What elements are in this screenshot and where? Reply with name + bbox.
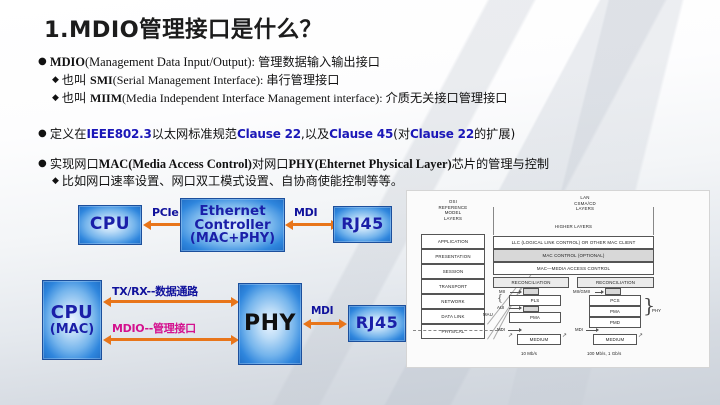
- bullet-line-clause: ● 定义在IEEE802.3以太网标准规范Clause 22,以及Clause …: [38, 124, 515, 142]
- osi-pls-cell: PLS: [509, 295, 561, 306]
- bullet-text-run: MAC(Media Access Control): [99, 157, 252, 171]
- osi-rate-right: 100 Mb/s, 1 Gb/s: [587, 351, 621, 356]
- osi-left-caption: OSI REFERENCE MODEL LAYERS: [417, 199, 489, 221]
- osi-right-caption: LAN CSMA/CD LAYERS: [547, 195, 623, 212]
- block-ethernet-controller: Ethernet Controller (MAC+PHY): [180, 198, 285, 252]
- bullet-text-run: 也叫: [62, 73, 90, 87]
- osi-layer-transport: TRANSPORT: [421, 279, 485, 294]
- osi-layer-data-link: DATA LINK: [421, 309, 485, 324]
- osi-medium-left-zigzag-b: ↗: [562, 333, 567, 339]
- bullet-text-run: 实现网口: [50, 157, 99, 171]
- osi-mau-tag: MAU: [483, 312, 493, 317]
- block-cpu-top-label: CPU: [90, 216, 130, 234]
- bullet-text-run: MIIM: [90, 91, 122, 105]
- bullet-text-run: 芯片的管理与控制: [452, 157, 550, 171]
- osi-mii-arrowhead: [519, 290, 522, 294]
- label-mdi-top: MDI: [294, 206, 317, 219]
- osi-medium-right: MEDIUM: [593, 334, 637, 345]
- arrow-mdio: [110, 338, 232, 341]
- bullet-marker: ◆: [52, 176, 62, 186]
- osi-llc-layer: LLC (LOGICAL LINK CONTROL) OR OTHER MAC …: [493, 236, 654, 249]
- block-phy-label: PHY: [244, 312, 296, 335]
- bullet-text-run: (Serial Management Interface):: [113, 73, 267, 87]
- label-pcie: PCIe: [152, 206, 179, 219]
- bullet-text-run: Clause 22: [237, 127, 301, 141]
- bullet-text-run: (对: [393, 127, 410, 141]
- controller-label-line2: Controller: [194, 218, 270, 232]
- bullet-line-mac-phy: ● 实现网口MAC(Media Access Control)对网口PHY(Eh…: [38, 154, 549, 172]
- osi-mac-control-layer: MAC CONTROL (OPTIONAL): [493, 249, 654, 262]
- controller-label-line3: (MAC+PHY): [190, 232, 275, 246]
- bullet-text-run: IEEE802.3: [86, 127, 151, 141]
- bullet-text-run: 以太网标准规范: [152, 127, 237, 141]
- osi-connector-left: [523, 288, 539, 295]
- osi-mii-gmii-arrowhead: [601, 290, 604, 294]
- osi-mdi-tag-right: MDI: [575, 327, 583, 332]
- bullet-text-run: 串行管理接口: [266, 73, 339, 87]
- bullet-text-run: Clause 22: [410, 127, 474, 141]
- osi-higher-layers: HIGHER LAYERS: [493, 219, 654, 234]
- block-rj45-top: RJ45: [333, 206, 392, 243]
- block-rj45-top-label: RJ45: [341, 216, 384, 233]
- bullet-text-run: (Media Independent Interface Management …: [122, 91, 386, 105]
- bullet-text-run: 也叫: [62, 91, 90, 105]
- osi-mac-layer: MAC—MEDIA ACCESS CONTROL: [493, 262, 654, 275]
- block-rj45-bottom: RJ45: [348, 305, 406, 342]
- osi-pma-right-cell: PMA: [589, 306, 641, 317]
- osi-layer-presentation: PRESENTATION: [421, 249, 485, 264]
- osi-aui-arrowhead: [519, 306, 522, 310]
- bullet-marker: ●: [38, 56, 50, 67]
- bullet-text-run: SMI: [90, 73, 113, 87]
- page-title: 1.MDIO管理接口是什么？: [44, 12, 322, 44]
- arrow-mdi-top: [292, 223, 332, 226]
- label-mdio: MDIO--管理接口: [112, 320, 196, 336]
- bullet-text-run: 管理数据输入输出接口: [258, 55, 380, 69]
- bullet-marker: ◆: [52, 75, 62, 85]
- osi-layer-application: APPLICATION: [421, 234, 485, 249]
- bullet-marker: ●: [38, 158, 50, 169]
- osi-layer-session: SESSION: [421, 264, 485, 279]
- osi-connector-right: [605, 288, 621, 295]
- bullet-text-run: Clause 45: [329, 127, 393, 141]
- controller-label-line1: Ethernet: [199, 204, 265, 218]
- block-cpu-mac: CPU (MAC): [42, 280, 102, 360]
- bullet-text-run: 对网口: [252, 157, 289, 171]
- bullet-text-run: MDIO: [50, 55, 85, 69]
- bullet-text-run: (Management Data Input/Output):: [85, 55, 258, 69]
- bullet-line-smi: ◆ 也叫 SMI(Serial Management Interface): 串…: [52, 70, 339, 88]
- arrow-mdi-bottom: [310, 322, 340, 325]
- bullet-marker: ◆: [52, 93, 62, 103]
- osi-medium-left-zigzag-a: ↗: [508, 333, 513, 339]
- osi-phy-label: PHY: [652, 308, 661, 313]
- osi-physical-divider: [413, 330, 503, 331]
- osi-pma-left-cell: PMA: [509, 312, 561, 323]
- slide-canvas: 1.MDIO管理接口是什么？ ● MDIO(Management Data In…: [0, 0, 720, 405]
- osi-reconciliation-left: RECONCILIATION: [493, 277, 569, 288]
- osi-reference-figure: OSI REFERENCE MODEL LAYERS LAN CSMA/CD L…: [406, 190, 710, 368]
- bullet-text-run: 介质无关接口管理接口: [386, 91, 508, 105]
- osi-pmd-cell: PMD: [589, 317, 641, 328]
- osi-medium-left: MEDIUM: [517, 334, 561, 345]
- block-rj45-bottom-label: RJ45: [356, 315, 399, 332]
- label-mdi-bottom: MDI: [311, 305, 333, 317]
- osi-reconciliation-right: RECONCILIATION: [577, 277, 654, 288]
- bullet-line-miim: ◆ 也叫 MIIM(Media Independent Interface Ma…: [52, 88, 507, 106]
- osi-aui-tag: AUI: [497, 305, 504, 310]
- bullet-marker: ●: [38, 128, 50, 139]
- osi-mdi-arrowhead-right: [596, 328, 599, 332]
- osi-phy-brace: }: [643, 297, 655, 316]
- bullet-text-run: 的扩展): [474, 127, 515, 141]
- block-phy: PHY: [238, 283, 302, 365]
- arrow-txrx: [110, 300, 232, 303]
- osi-mdi-arrowhead-left: [519, 328, 522, 332]
- block-cpu-mac-label2: (MAC): [50, 323, 94, 337]
- bullet-text-run: 定义在: [50, 127, 87, 141]
- osi-layer-physical: PHYSICAL: [421, 324, 485, 339]
- osi-mii-gmii-tag: MII/GMII: [573, 289, 590, 294]
- bullet-line-mdio: ● MDIO(Management Data Input/Output): 管理…: [38, 52, 380, 70]
- bullet-text-run: ,以及: [301, 127, 329, 141]
- osi-layer-network: NETWORK: [421, 294, 485, 309]
- osi-pcs-cell: PCS: [589, 295, 641, 306]
- label-txrx: TX/RX--数据通路: [112, 283, 198, 299]
- osi-medium-right-zigzag: ↗: [638, 333, 643, 339]
- osi-rate-left: 10 Mb/s: [521, 351, 537, 356]
- bullet-text-run: 比如网口速率设置、网口双工模式设置、自协商使能控制等等。: [62, 174, 403, 188]
- block-cpu-mac-label1: CPU: [51, 304, 94, 323]
- block-cpu-top: CPU: [78, 205, 142, 245]
- bullet-text-run: PHY(Ehternet Physical Layer): [288, 157, 451, 171]
- osi-mau-brace: {: [497, 295, 503, 304]
- bullet-line-examples: ◆ 比如网口速率设置、网口双工模式设置、自协商使能控制等等。: [52, 171, 403, 189]
